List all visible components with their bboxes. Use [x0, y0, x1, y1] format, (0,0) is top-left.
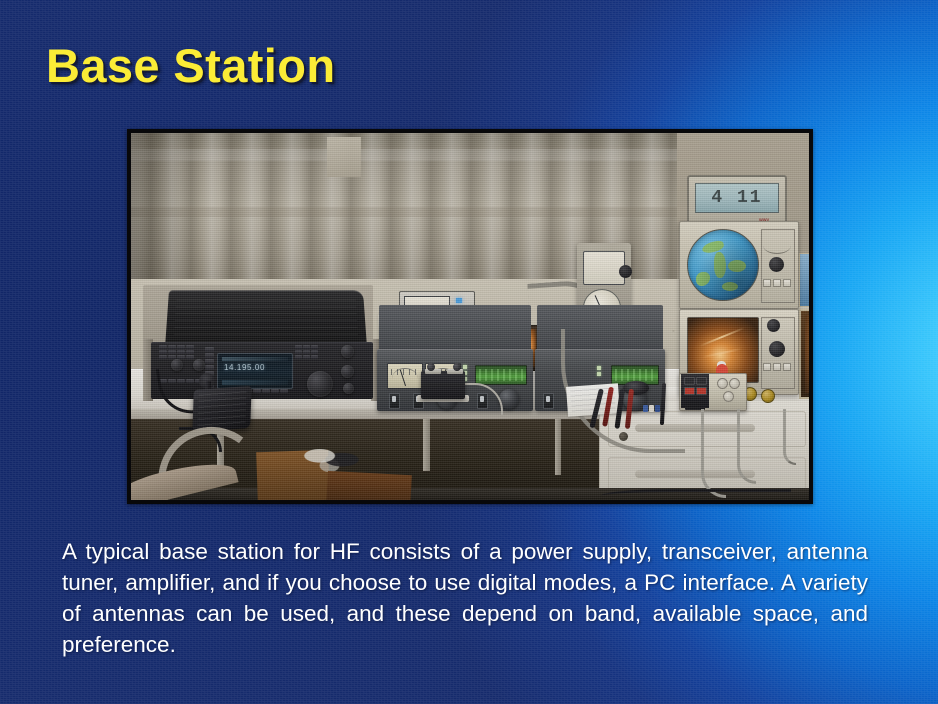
display-top-bar	[222, 357, 288, 361]
meter-ticks	[391, 369, 420, 374]
page-title: Base Station	[46, 38, 336, 93]
black-puck	[623, 381, 649, 395]
rocker-switch	[684, 377, 695, 385]
vfo-tuning-knob	[307, 371, 333, 397]
power-led	[456, 298, 462, 303]
wattmeter-knob	[619, 265, 632, 278]
power-outlet	[729, 378, 740, 389]
toggle-switch	[389, 393, 400, 409]
digital-clock: 4 11 WWV	[687, 175, 787, 225]
transceiver-display: 14.195.00	[217, 353, 293, 389]
globe-shading	[688, 230, 758, 300]
red-rocker-switch	[696, 387, 707, 395]
power-outlet	[717, 378, 728, 389]
drawer-pull	[635, 470, 755, 478]
world-map-display	[687, 229, 759, 301]
transceiver-knob	[343, 383, 354, 394]
transceiver-top-cover	[165, 290, 367, 349]
power-cord	[737, 409, 756, 484]
paddle-knob	[453, 363, 461, 371]
transceiver-button-grid	[295, 345, 318, 359]
morse-code-paddle	[421, 371, 465, 399]
photo-frame: 14.195.00	[127, 129, 813, 504]
power-cord	[701, 409, 726, 498]
control-knob	[767, 319, 780, 332]
transceiver-knob	[341, 345, 354, 358]
tuner-lcd-display	[475, 365, 527, 385]
slide: Base Station	[0, 0, 938, 704]
ventilation-slots	[174, 300, 359, 341]
control-button-grid	[763, 279, 791, 287]
clock-screen: 4 11	[695, 183, 779, 213]
control-panel-scale	[763, 237, 791, 254]
microphone-grille	[197, 391, 246, 427]
curtain-shadow	[131, 133, 201, 285]
cardboard-box	[326, 471, 412, 500]
transceiver-knob	[341, 365, 354, 378]
display-trace	[702, 348, 742, 358]
frequency-readout: 14.195.00	[224, 363, 265, 372]
power-outlet	[723, 391, 734, 402]
curtain-gap	[327, 137, 361, 177]
desk-leg	[555, 419, 561, 475]
desk-microphone	[192, 386, 251, 432]
desk-leg	[423, 419, 430, 471]
antenna-tuner-chassis	[379, 305, 531, 351]
toggle-switch	[543, 393, 554, 409]
paddle-knob	[427, 363, 435, 371]
coax-connector	[761, 389, 775, 403]
display-spectrum-bar	[222, 380, 288, 385]
control-knob	[769, 257, 784, 272]
transceiver-button-grid	[159, 345, 194, 359]
analog-meter	[387, 363, 423, 389]
rocker-switch	[696, 377, 707, 385]
red-rocker-switch	[684, 387, 695, 395]
display-trace	[699, 327, 744, 347]
base-station-photograph: 14.195.00	[131, 133, 809, 500]
clock-digits: 4 11	[696, 188, 778, 208]
slide-body-text: A typical base station for HF consists o…	[62, 536, 868, 691]
wall-picture	[799, 253, 809, 307]
wall-picture	[799, 309, 809, 399]
pen-caps	[643, 405, 659, 412]
power-cord	[783, 409, 796, 465]
control-button-grid	[763, 363, 791, 371]
floor-cable	[601, 489, 791, 500]
control-knob	[769, 341, 785, 357]
